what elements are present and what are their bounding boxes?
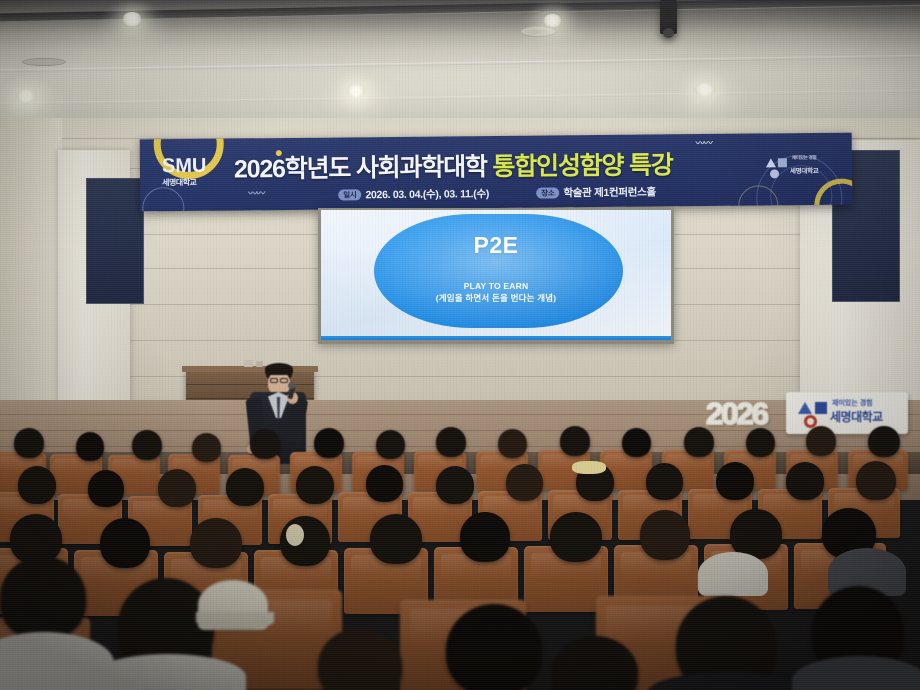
audience-head (370, 514, 422, 564)
audience-head (158, 469, 196, 507)
ceiling-spotlight (346, 84, 366, 98)
banner-title-main: 2026학년도 사회과학대학 (234, 153, 487, 183)
banner-logo-mark: SMU (162, 155, 207, 178)
banner-ring-decoration (142, 187, 184, 211)
audience-head (14, 428, 44, 458)
audience-head (746, 428, 775, 457)
audience-head (806, 426, 836, 456)
audience-shoulders-foreground (792, 656, 920, 690)
microphone-head-icon (288, 382, 295, 389)
projection-screen: P2E PLAY TO EARN (게임을 하면서 돈을 번다는 개념) (321, 210, 671, 340)
event-banner: 〰〰 〰〰 SMU 세명대학교 2026학년도 사회과학대학 통합인성함양 특강… (140, 133, 853, 212)
projector-lens-icon (663, 28, 674, 38)
audience-head (132, 430, 162, 460)
slide-sub-ko: (게임을 하면서 돈을 번다는 개념) (436, 293, 557, 303)
audience-head (226, 468, 264, 506)
audience-head (786, 462, 824, 500)
brand-square-icon (778, 158, 787, 167)
audience-head (376, 430, 405, 459)
lectern-object (244, 360, 253, 367)
speaker-glasses-icon (270, 378, 278, 383)
wall-panel-left (86, 178, 144, 304)
audience-head (76, 432, 104, 461)
brand-triangle-icon (766, 158, 776, 167)
ceiling-spotlight (543, 14, 562, 27)
audience-head (100, 518, 150, 568)
audience-head-foreground (0, 556, 86, 640)
lectern-object (256, 361, 263, 367)
audience-head (716, 462, 754, 500)
ceiling-grille-icon (22, 58, 66, 66)
banner-venue-chip: 장소 (536, 187, 559, 198)
audience-head-foreground (446, 604, 542, 690)
audience-head (622, 428, 651, 457)
banner-date-line: 일시2026. 03. 04.(수), 03. 11.(수) (338, 186, 489, 202)
brand-circle-icon (770, 169, 779, 178)
audience-head (460, 512, 510, 562)
audience-shoulders (698, 552, 768, 596)
slide-headline: P2E (321, 232, 671, 259)
audience-head (250, 429, 280, 459)
photo-zone-numerals: 2026 (706, 396, 767, 432)
ceiling-vent-icon (520, 26, 556, 37)
audience-head (868, 426, 900, 457)
audience-head (192, 433, 221, 462)
hair-scrunchie (286, 524, 304, 546)
banner-wave-decoration: 〰〰 (248, 186, 264, 199)
audience-head (18, 466, 56, 504)
audience-head (506, 464, 543, 501)
audience-head (88, 470, 124, 507)
banner-title-accent: 통합인성함양 특강 (492, 151, 672, 181)
audience-head (646, 463, 683, 500)
banner-date-text: 2026. 03. 04.(수), 03. 11.(수) (365, 188, 489, 201)
audience-head (856, 461, 896, 500)
photo-zone-square-icon (815, 402, 827, 414)
audience-head (190, 518, 242, 568)
speaker-glasses-icon (280, 378, 288, 383)
slide-sub-en: PLAY TO EARN (464, 281, 529, 291)
ceiling-spotlight (15, 89, 37, 103)
photo-zone-card-line2: 세명대학교 (830, 408, 883, 425)
audience-head (366, 465, 403, 502)
audience-head-foreground (318, 628, 402, 690)
slide-subtext: PLAY TO EARN (게임을 하면서 돈을 번다는 개념) (321, 280, 671, 305)
photo-zone-card-line1: 재미있는 경험 (832, 398, 873, 408)
banner-right-logo-sub: 재미있는 경험 (792, 155, 817, 161)
lecture-hall-photo: 〰〰 〰〰 SMU 세명대학교 2026학년도 사회과학대학 통합인성함양 특강… (0, 0, 920, 690)
hair-accessory (572, 461, 606, 474)
audience-head (550, 512, 602, 562)
audience-head (436, 466, 474, 504)
ceiling-spotlight (694, 82, 716, 97)
audience-head (640, 510, 690, 560)
banner-title: 2026학년도 사회과학대학 통합인성함양 특강 (234, 145, 673, 185)
audience-head (498, 429, 527, 458)
banner-logo-korean: 세명대학교 (162, 177, 196, 188)
cap-brim (196, 612, 274, 630)
photo-zone-triangle-icon (798, 402, 812, 414)
audience-head (314, 428, 344, 458)
ceiling-spotlight (122, 12, 142, 26)
banner-right-logo-main: 세명대학교 (790, 165, 819, 175)
audience-head (684, 427, 714, 457)
speaker-hair-top (265, 363, 293, 375)
slide-bottom-bar (321, 336, 671, 340)
ceiling (0, 0, 920, 132)
banner-venue-text: 학술관 제1컨퍼런스홀 (563, 186, 656, 199)
audience-head (560, 426, 590, 456)
audience-head (296, 466, 334, 504)
banner-wave-decoration: 〰〰 (696, 136, 712, 149)
banner-venue-line: 장소학술관 제1컨퍼런스홀 (536, 184, 656, 200)
audience-head (436, 427, 466, 457)
banner-date-chip: 일시 (338, 189, 361, 200)
